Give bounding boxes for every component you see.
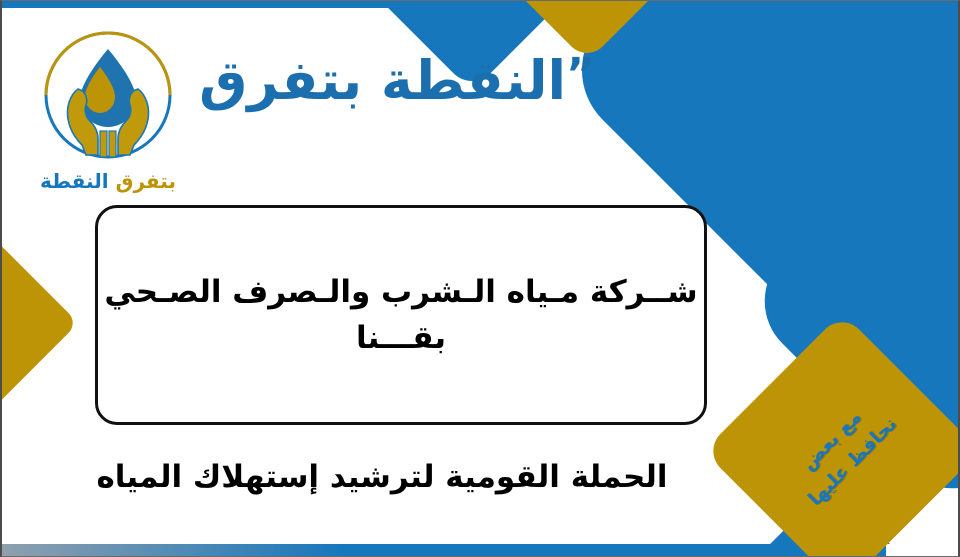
- company-name-line-1: شــركة مـياه الـشرب والـصرف الصـحي: [104, 269, 697, 316]
- headline-open-quote: ”: [566, 49, 595, 100]
- poster-canvas: بتفرق النقطة ”النقطة بتفرق شــركة مـياه …: [0, 0, 960, 557]
- gold-diamond-left-edge: [0, 232, 79, 413]
- bottom-right-mask: [886, 544, 958, 556]
- bottom-blue-bar-fade: [2, 544, 342, 556]
- logo-caption-secondary: بتفرق: [116, 169, 176, 193]
- poster-headline: ”النقطة بتفرق: [187, 49, 607, 112]
- company-logo: بتفرق النقطة: [28, 27, 188, 197]
- logo-caption: بتفرق النقطة: [28, 169, 188, 193]
- company-name-box: شــركة مـياه الـشرب والـصرف الصـحي بقـــ…: [95, 205, 707, 425]
- company-name-line-2: بقـــنا: [356, 315, 446, 362]
- water-drop-in-hands-icon: [28, 27, 188, 167]
- campaign-title: الحملة القومية لترشيد إستهلاك المياه: [62, 459, 702, 495]
- headline-text: النقطة بتفرق: [199, 49, 566, 112]
- logo-caption-primary: النقطة: [40, 169, 109, 193]
